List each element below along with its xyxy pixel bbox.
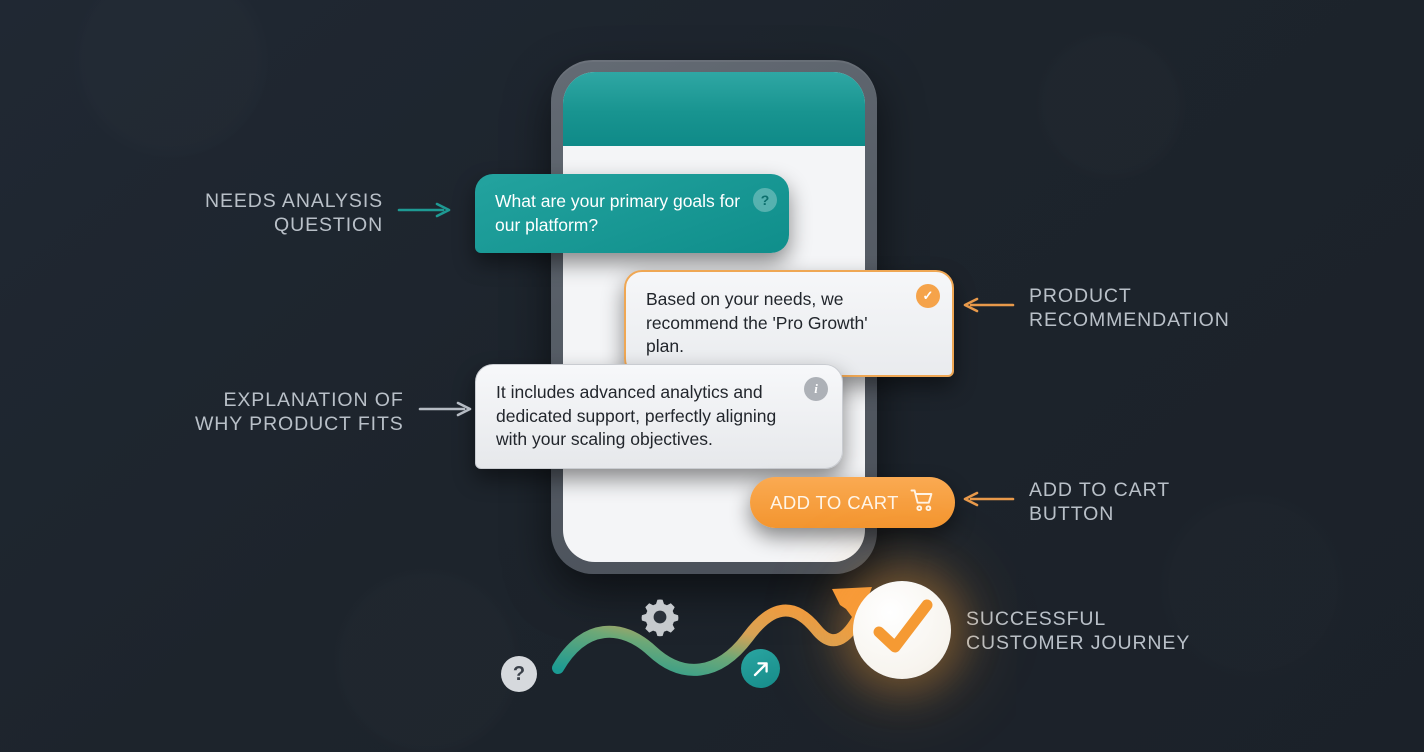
- app-header-bar: [563, 72, 865, 146]
- annotation-add-to-cart: ADD TO CART BUTTON: [963, 479, 1170, 527]
- annotation-explanation-label: EXPLANATION OF WHY PRODUCT FITS: [195, 389, 404, 437]
- annotation-product-recommendation: PRODUCT RECOMMENDATION: [963, 285, 1230, 333]
- arrow-left-icon: [963, 295, 1015, 322]
- chat-bubble-recommendation: Based on your needs, we recommend the 'P…: [624, 270, 954, 377]
- gear-icon: [638, 595, 682, 644]
- arrow-right-icon: [418, 399, 476, 426]
- chat-bubble-question: What are your primary goals for our plat…: [475, 174, 789, 253]
- info-icon: i: [804, 377, 828, 401]
- annotation-explanation: EXPLANATION OF WHY PRODUCT FITS: [195, 389, 476, 437]
- success-check-icon: [853, 581, 951, 679]
- check-circle-icon: ✓: [916, 284, 940, 308]
- infographic-stage: What are your primary goals for our plat…: [0, 0, 1424, 752]
- chat-bubble-explanation: It includes advanced analytics and dedic…: [475, 364, 843, 469]
- add-to-cart-button[interactable]: ADD TO CART: [750, 477, 955, 528]
- add-to-cart-label: ADD TO CART: [770, 492, 899, 514]
- chat-bubble-recommendation-text: Based on your needs, we recommend the 'P…: [646, 289, 868, 356]
- chat-bubble-explanation-text: It includes advanced analytics and dedic…: [496, 382, 776, 449]
- journey-question-icon: ?: [501, 656, 537, 692]
- annotation-needs-analysis-label: NEEDS ANALYSIS QUESTION: [205, 190, 383, 238]
- arrow-right-icon: [397, 200, 455, 227]
- journey-question-glyph: ?: [513, 663, 525, 686]
- question-mark-icon: ?: [753, 188, 777, 212]
- shopping-cart-icon: [910, 489, 935, 517]
- chat-bubble-question-text: What are your primary goals for our plat…: [495, 191, 740, 235]
- annotation-product-recommendation-label: PRODUCT RECOMMENDATION: [1029, 285, 1230, 333]
- annotation-needs-analysis: NEEDS ANALYSIS QUESTION: [205, 190, 455, 238]
- arrow-up-right-icon: [741, 649, 780, 688]
- annotation-add-to-cart-label: ADD TO CART BUTTON: [1029, 479, 1170, 527]
- arrow-left-icon: [963, 489, 1015, 516]
